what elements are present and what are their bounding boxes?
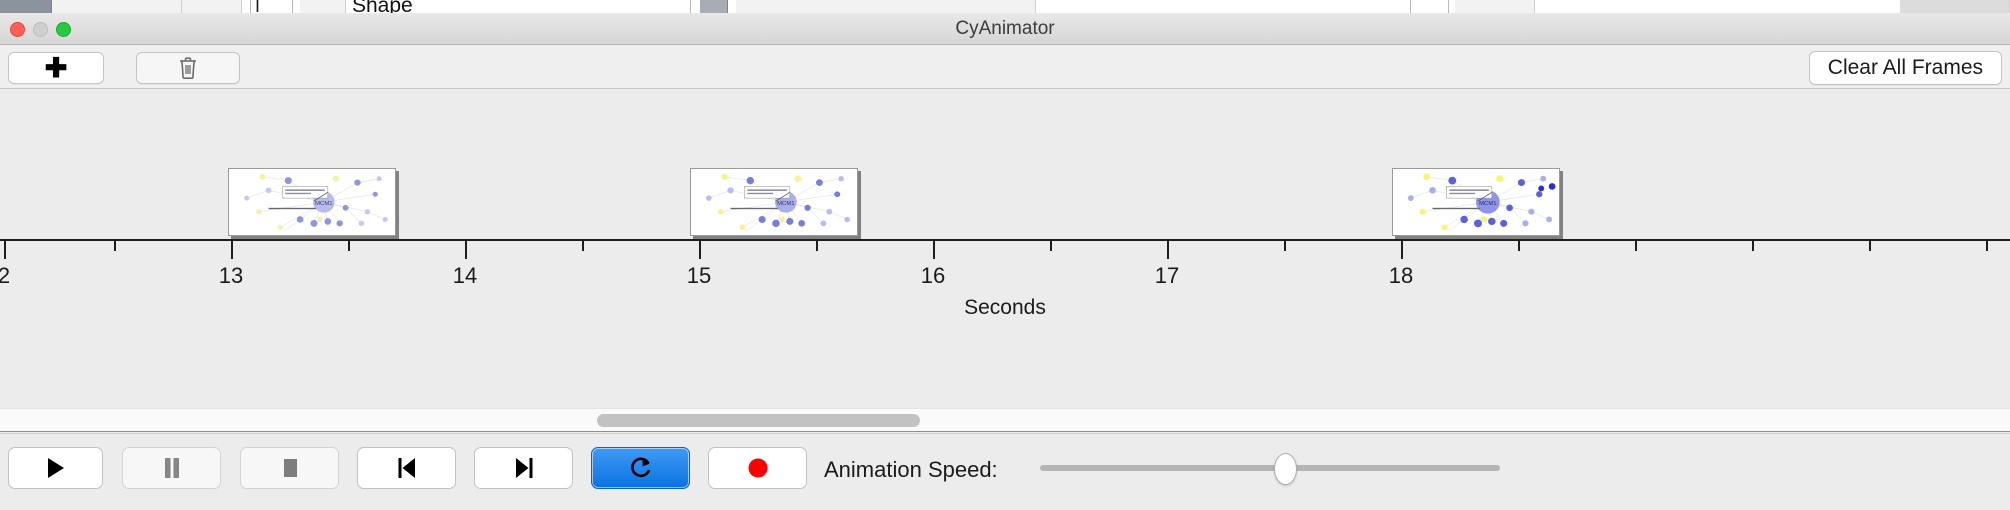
axis-tick-label: 16 xyxy=(921,263,945,289)
axis-tick-major xyxy=(699,241,701,259)
plus-icon: ✚ xyxy=(45,55,68,82)
bg-tab-7 xyxy=(1455,0,1535,13)
add-frame-button[interactable]: ✚ xyxy=(8,52,104,84)
delete-frame-button[interactable] xyxy=(136,52,240,84)
bg-window-label: Shape xyxy=(352,0,413,13)
frames-toolbar: ✚ Clear All Frames xyxy=(0,45,2010,89)
playback-controls: Animation Speed: xyxy=(0,433,2010,510)
network-preview-2: MCM1 xyxy=(691,169,857,235)
timeline-panel[interactable]: MCM1 xyxy=(0,89,2010,408)
bg-tab-3 xyxy=(182,0,242,13)
svg-text:MCM1: MCM1 xyxy=(315,201,332,207)
axis-tick-label: 15 xyxy=(687,263,711,289)
axis-tick-minor xyxy=(1284,241,1286,251)
svg-text:MCM1: MCM1 xyxy=(1479,201,1496,207)
svg-text:MCM1: MCM1 xyxy=(777,201,794,207)
clear-all-frames-button[interactable]: Clear All Frames xyxy=(1809,51,2002,85)
cyanimator-window: ǀ Shape CyAnimator ✚ xyxy=(0,0,2010,510)
bg-tab-8 xyxy=(1900,0,2010,13)
loop-button[interactable] xyxy=(591,447,690,489)
axis-tick-minor xyxy=(348,241,350,251)
axis-tick-minor xyxy=(1986,241,1988,251)
animation-speed-slider[interactable] xyxy=(1040,465,1500,471)
axis-tick-minor xyxy=(1518,241,1520,251)
axis-title: Seconds xyxy=(0,296,2010,320)
loop-icon xyxy=(628,455,654,481)
pause-button[interactable] xyxy=(122,447,221,489)
animation-speed-slider-thumb[interactable] xyxy=(1274,453,1297,485)
axis-tick-major xyxy=(1401,241,1403,259)
stop-button[interactable] xyxy=(240,447,339,489)
bg-tab-5 xyxy=(700,0,728,13)
axis-tick-label: 2 xyxy=(0,263,10,289)
axis-tick-major xyxy=(465,241,467,259)
axis-tick-minor xyxy=(1635,241,1637,251)
record-button[interactable] xyxy=(708,447,807,489)
play-button[interactable] xyxy=(8,447,103,489)
clear-all-frames-label: Clear All Frames xyxy=(1828,56,1983,80)
background-window-strip: ǀ Shape xyxy=(0,0,2010,13)
axis-tick-major xyxy=(4,241,6,259)
bg-tab-4 xyxy=(300,0,346,13)
keyframe-thumbnail-3[interactable]: MCM1 xyxy=(1392,168,1560,236)
bg-divider-2 xyxy=(292,0,293,13)
record-icon xyxy=(746,456,770,480)
axis-tick-major xyxy=(231,241,233,259)
axis-tick-label: 17 xyxy=(1155,263,1179,289)
skip-forward-icon xyxy=(513,456,535,480)
timeline-axis-line xyxy=(0,239,2010,241)
axis-tick-label: 18 xyxy=(1389,263,1413,289)
axis-tick-major xyxy=(1167,241,1169,259)
animation-speed-label: Animation Speed: xyxy=(824,457,998,483)
pause-icon xyxy=(162,456,182,480)
bg-divider-1 xyxy=(250,0,251,13)
skip-back-icon xyxy=(396,456,418,480)
bg-glyph-1: ǀ xyxy=(255,0,260,13)
timeline-scrollbar-thumb[interactable] xyxy=(597,414,920,427)
axis-tick-minor xyxy=(114,241,116,251)
bg-divider-5 xyxy=(1448,0,1449,13)
trash-icon xyxy=(178,56,198,80)
network-preview-1: MCM1 xyxy=(229,169,395,235)
axis-tick-minor xyxy=(1050,241,1052,251)
keyframe-thumbnail-1[interactable]: MCM1 xyxy=(228,168,396,236)
bg-divider-4 xyxy=(1410,0,1411,13)
timeline-scrollbar[interactable] xyxy=(0,408,2010,432)
bg-tab-6 xyxy=(736,0,1036,13)
bg-tab-1 xyxy=(0,0,52,13)
keyframe-thumbnail-2[interactable]: MCM1 xyxy=(690,168,858,236)
axis-tick-minor xyxy=(816,241,818,251)
axis-tick-label: 13 xyxy=(219,263,243,289)
axis-tick-major xyxy=(933,241,935,259)
axis-tick-minor xyxy=(582,241,584,251)
axis-tick-minor xyxy=(1752,241,1754,251)
next-frame-button[interactable] xyxy=(474,447,573,489)
network-preview-3: MCM1 xyxy=(1393,169,1559,235)
window-title: CyAnimator xyxy=(0,13,2010,45)
axis-tick-label: 14 xyxy=(453,263,477,289)
bg-tab-2 xyxy=(52,0,182,13)
bg-divider-3 xyxy=(690,0,691,13)
stop-icon xyxy=(280,456,300,480)
axis-tick-minor xyxy=(1869,241,1871,251)
title-bar[interactable]: CyAnimator xyxy=(0,13,2010,45)
play-icon xyxy=(45,456,67,480)
previous-frame-button[interactable] xyxy=(357,447,456,489)
